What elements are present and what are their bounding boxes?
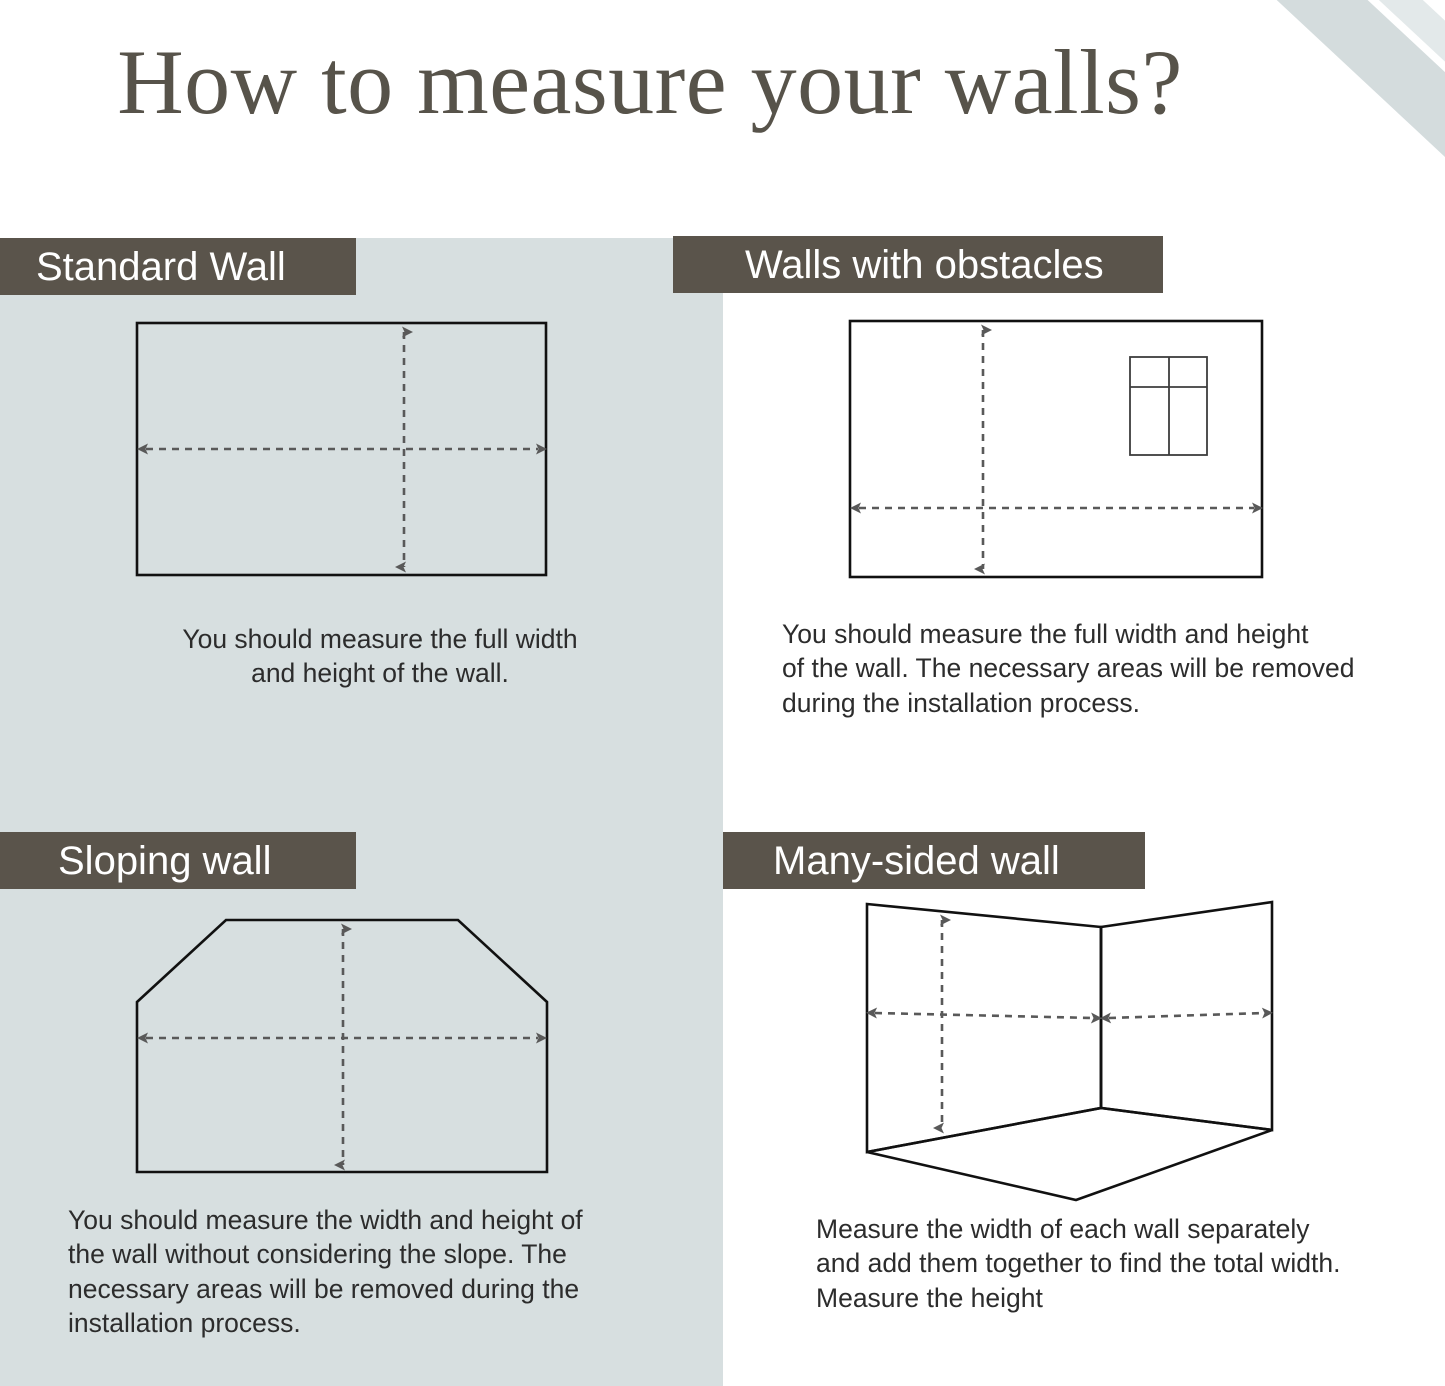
left-wall-width-dimension-arrow (875, 1013, 1093, 1018)
right-wall-face (1101, 902, 1272, 1130)
page-title: How to measure your walls? (0, 34, 1300, 132)
caption-sloping-wall: You should measure the width and height … (68, 1203, 658, 1341)
caption-many-sided-wall: Measure the width of each wall separatel… (816, 1212, 1416, 1315)
wall-rectangle (850, 321, 1262, 577)
wall-with-window-diagram (835, 305, 1285, 595)
caption-standard-wall: You should measure the full width and he… (120, 622, 640, 691)
section-header-sloping-wall: Sloping wall (0, 832, 356, 889)
section-header-walls-with-obstacles: Walls with obstacles (673, 236, 1163, 293)
window-obstacle-icon (1130, 357, 1207, 455)
floor-face (867, 1108, 1272, 1200)
right-wall-width-dimension-arrow (1109, 1013, 1264, 1018)
infographic-page: How to measure your walls? Standard Wall (0, 0, 1445, 1386)
section-header-standard-wall: Standard Wall (0, 238, 356, 295)
standard-wall-diagram (120, 305, 570, 595)
section-header-many-sided-wall: Many-sided wall (723, 832, 1145, 889)
caption-walls-with-obstacles: You should measure the full width and he… (782, 617, 1407, 720)
sloping-wall-diagram (120, 900, 570, 1190)
corner-room-diagram (845, 890, 1295, 1215)
